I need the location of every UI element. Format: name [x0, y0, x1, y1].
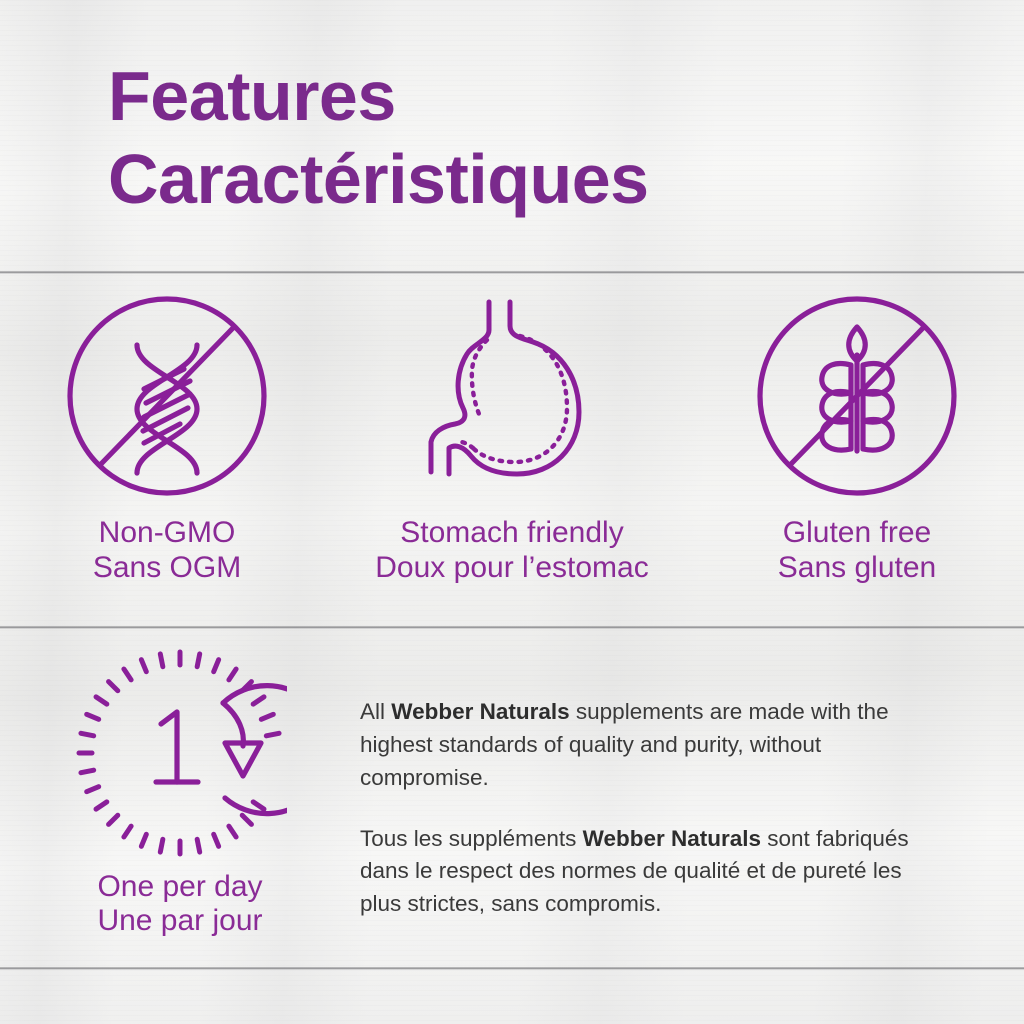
- body-en-before: All: [360, 699, 391, 724]
- one-per-day-label-fr: Une par jour: [97, 904, 262, 938]
- no-gmo-dna-icon: [64, 292, 270, 500]
- feature-caption: Stomach friendly Doux pour l’estomac: [375, 516, 648, 586]
- feature-row: Non-GMO Sans OGM: [0, 292, 1024, 586]
- body-paragraph-fr: Tous les suppléments Webber Naturals son…: [360, 823, 920, 922]
- one-per-day-section: One per day Une par jour All Webber Natu…: [0, 642, 1024, 938]
- one-per-day-block: One per day Une par jour: [0, 642, 360, 938]
- feature-label-fr: Sans gluten: [778, 551, 936, 586]
- one-per-day-caption: One per day Une par jour: [97, 870, 262, 938]
- page-title-en: Features: [108, 62, 928, 131]
- no-gluten-wheat-icon: [754, 292, 960, 500]
- feature-label-fr: Doux pour l’estomac: [375, 551, 648, 586]
- feature-label-en: Stomach friendly: [375, 516, 648, 551]
- page-title-fr: Caractéristiques: [108, 145, 928, 214]
- feature-stomach-friendly: Stomach friendly Doux pour l’estomac: [334, 292, 690, 586]
- stomach-icon: [417, 292, 607, 500]
- feature-caption: Gluten free Sans gluten: [778, 516, 936, 586]
- feature-non-gmo: Non-GMO Sans OGM: [0, 292, 334, 586]
- feature-gluten-free: Gluten free Sans gluten: [690, 292, 1024, 586]
- feature-label-en: Gluten free: [778, 516, 936, 551]
- feature-caption: Non-GMO Sans OGM: [93, 516, 241, 586]
- brand-name-fr: Webber Naturals: [583, 826, 761, 851]
- body-copy: All Webber Naturals supplements are made…: [360, 642, 960, 921]
- feature-panel: Features Caractéristiques: [0, 0, 1024, 1024]
- one-per-day-icon: [73, 648, 287, 858]
- brand-name-en: Webber Naturals: [391, 699, 569, 724]
- one-per-day-label-en: One per day: [97, 870, 262, 904]
- feature-label-fr: Sans OGM: [93, 551, 241, 586]
- body-fr-before: Tous les suppléments: [360, 826, 583, 851]
- page-title: Features Caractéristiques: [108, 62, 928, 213]
- feature-label-en: Non-GMO: [93, 516, 241, 551]
- body-paragraph-en: All Webber Naturals supplements are made…: [360, 696, 920, 795]
